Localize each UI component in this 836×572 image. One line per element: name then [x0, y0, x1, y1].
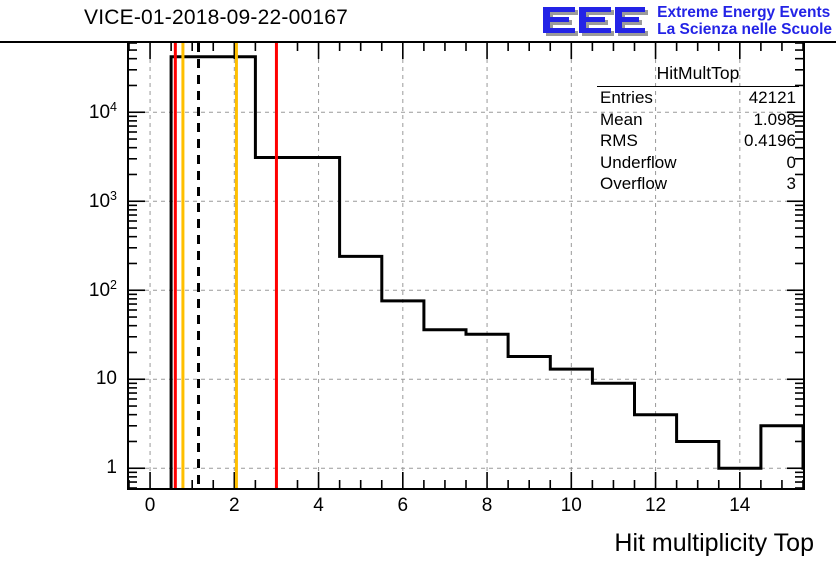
eee-logo-text: Extreme Energy Events La Scienza nelle S…: [657, 4, 832, 38]
statistics-row-value: 1.098: [753, 109, 796, 131]
y-axis-tick-label: 104: [0, 100, 117, 124]
statistics-row-value: 0.4196: [744, 130, 796, 152]
statistics-row-value: 0: [787, 152, 796, 174]
statistics-row: Entries42121: [597, 87, 799, 109]
x-axis-tick-label: 0: [145, 495, 156, 517]
y-axis-tick-label: 103: [0, 189, 117, 213]
chart-page: VICE-01-2018-09-22-00167: [0, 0, 836, 572]
statistics-row-label: Overflow: [600, 173, 667, 195]
eee-logo-line1: Extreme Energy Events: [657, 4, 832, 21]
y-axis-tick-label: 10: [0, 368, 117, 390]
eee-mark-icon: [539, 2, 651, 40]
statistics-title: HitMultTop: [597, 62, 799, 87]
statistics-row: Mean1.098: [597, 109, 799, 131]
x-axis-tick-label: 12: [645, 495, 666, 517]
x-axis-tick-label: 10: [561, 495, 582, 517]
page-title: VICE-01-2018-09-22-00167: [84, 6, 348, 30]
statistics-row-label: Mean: [600, 109, 643, 131]
statistics-row-value: 42121: [749, 87, 796, 109]
y-axis-tick-label: 102: [0, 278, 117, 302]
x-axis-tick-label: 6: [398, 495, 409, 517]
x-axis-tick-label: 8: [482, 495, 493, 517]
x-axis-title: Hit multiplicity Top: [614, 529, 814, 558]
statistics-row: RMS0.4196: [597, 130, 799, 152]
eee-logo-line2: La Scienza nelle Scuole: [657, 21, 832, 38]
statistics-row-value: 3: [787, 173, 796, 195]
statistics-row: Overflow3: [597, 173, 799, 195]
x-axis-tick-label: 2: [229, 495, 240, 517]
statistics-row-label: Underflow: [600, 152, 677, 174]
eee-logo: Extreme Energy Events La Scienza nelle S…: [539, 2, 832, 40]
statistics-row-label: RMS: [600, 130, 638, 152]
statistics-rows: Entries42121Mean1.098RMS0.4196Underflow0…: [597, 87, 799, 195]
marker-lines: [175, 43, 276, 488]
statistics-row-label: Entries: [600, 87, 653, 109]
y-axis-tick-label: 1: [0, 457, 117, 479]
statistics-row: Underflow0: [597, 152, 799, 174]
statistics-box: HitMultTop Entries42121Mean1.098RMS0.419…: [597, 62, 799, 195]
x-axis-tick-label: 14: [729, 495, 750, 517]
x-axis-tick-label: 4: [313, 495, 324, 517]
